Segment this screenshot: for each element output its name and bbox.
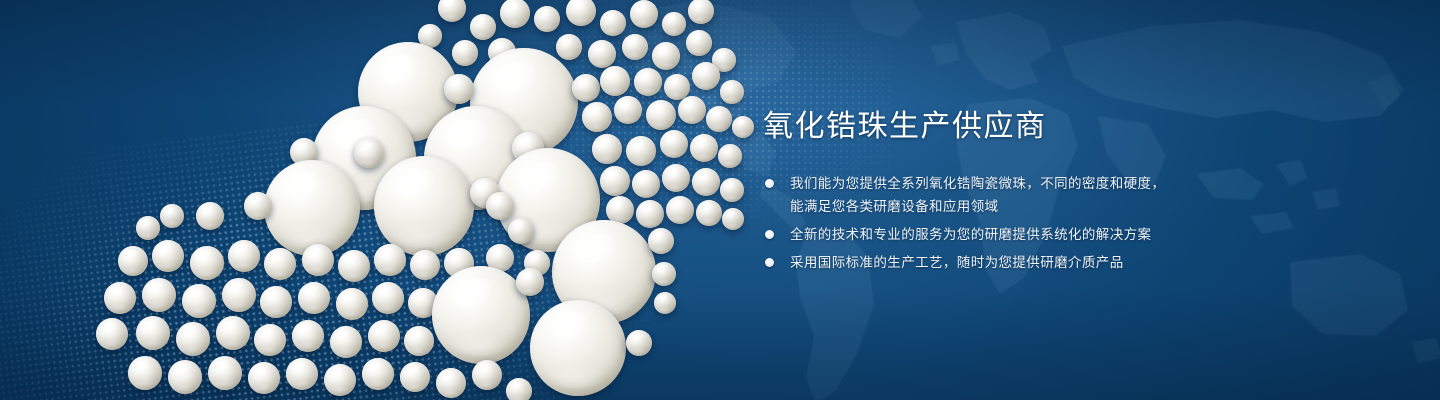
list-item: 全新的技术和专业的服务为您的研磨提供系统化的解决方案 <box>763 223 1283 246</box>
bullet-dot-icon <box>765 179 774 188</box>
bullet-dot-icon <box>765 258 774 267</box>
page-title: 氧化锆珠生产供应商 <box>763 108 1283 146</box>
hero-banner: 氧化锆珠生产供应商 我们能为您提供全系列氧化锆陶瓷微珠，不同的密度和硬度， 能满… <box>0 0 1440 400</box>
feature-list: 我们能为您提供全系列氧化锆陶瓷微珠，不同的密度和硬度， 能满足您各类研磨设备和应… <box>763 172 1283 274</box>
list-item: 采用国际标准的生产工艺，随时为您提供研磨介质产品 <box>763 251 1283 274</box>
list-item-line1: 全新的技术和专业的服务为您的研磨提供系统化的解决方案 <box>790 223 1283 246</box>
list-item-line2: 能满足您各类研磨设备和应用领域 <box>790 195 1283 218</box>
bullet-dot-icon <box>765 230 774 239</box>
list-item-line1: 采用国际标准的生产工艺，随时为您提供研磨介质产品 <box>790 251 1283 274</box>
zirconia-beads-image <box>0 0 760 400</box>
list-item: 我们能为您提供全系列氧化锆陶瓷微珠，不同的密度和硬度， 能满足您各类研磨设备和应… <box>763 172 1283 218</box>
list-item-line1: 我们能为您提供全系列氧化锆陶瓷微珠，不同的密度和硬度， <box>790 172 1283 195</box>
banner-content: 氧化锆珠生产供应商 我们能为您提供全系列氧化锆陶瓷微珠，不同的密度和硬度， 能满… <box>763 108 1283 274</box>
